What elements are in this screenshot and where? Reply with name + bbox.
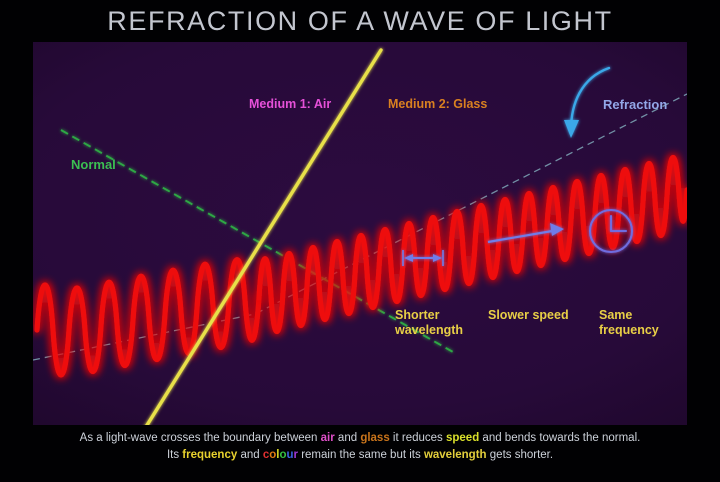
caption-line-2: Its frequency and colour remain the same… <box>0 447 720 464</box>
refraction-label: Refraction <box>603 97 667 112</box>
normal-label: Normal <box>71 157 116 172</box>
caption-text: and bends towards the normal. <box>479 432 640 444</box>
caption-text: and <box>237 449 263 461</box>
caption-speed-word: speed <box>446 432 479 444</box>
incident-wave <box>37 260 259 375</box>
same-frequency-line1: Same <box>599 308 659 323</box>
caption-frequency-word: frequency <box>182 449 237 461</box>
shorter-wavelength-line2: wavelength <box>395 323 463 338</box>
caption-text: and <box>335 432 361 444</box>
shorter-wavelength-line1: Shorter <box>395 308 463 323</box>
caption-text: gets shorter. <box>487 449 553 461</box>
medium1-label: Medium 1: Air <box>249 97 331 111</box>
shorter-wavelength-annotation: Shorter wavelength <box>395 308 463 338</box>
slower-speed-annotation: Slower speed <box>488 308 569 323</box>
caption-wavelength-word: wavelength <box>424 449 487 461</box>
screenshot-root: REFRACTION OF A WAVE OF LIGHT <box>0 0 720 482</box>
page-title: REFRACTION OF A WAVE OF LIGHT <box>0 4 720 38</box>
caption-air-word: air <box>321 432 335 444</box>
refraction-diagram-svg <box>33 42 687 425</box>
caption-colour-letter: o <box>279 449 286 461</box>
refracted-wave <box>259 157 687 331</box>
caption-text: remain the same but its <box>298 449 424 461</box>
caption: As a light-wave crosses the boundary bet… <box>0 430 720 464</box>
caption-glass-word: glass <box>360 432 389 444</box>
caption-text: Its <box>167 449 182 461</box>
caption-text: As a light-wave crosses the boundary bet… <box>80 432 321 444</box>
diagram-panel: Medium 1: Air Medium 2: Glass Refraction… <box>33 42 687 425</box>
same-frequency-annotation: Same frequency <box>599 308 659 338</box>
caption-colour-letter: u <box>287 449 294 461</box>
caption-text: it reduces <box>390 432 446 444</box>
same-frequency-line2: frequency <box>599 323 659 338</box>
medium2-label: Medium 2: Glass <box>388 97 487 111</box>
caption-line-1: As a light-wave crosses the boundary bet… <box>0 430 720 447</box>
